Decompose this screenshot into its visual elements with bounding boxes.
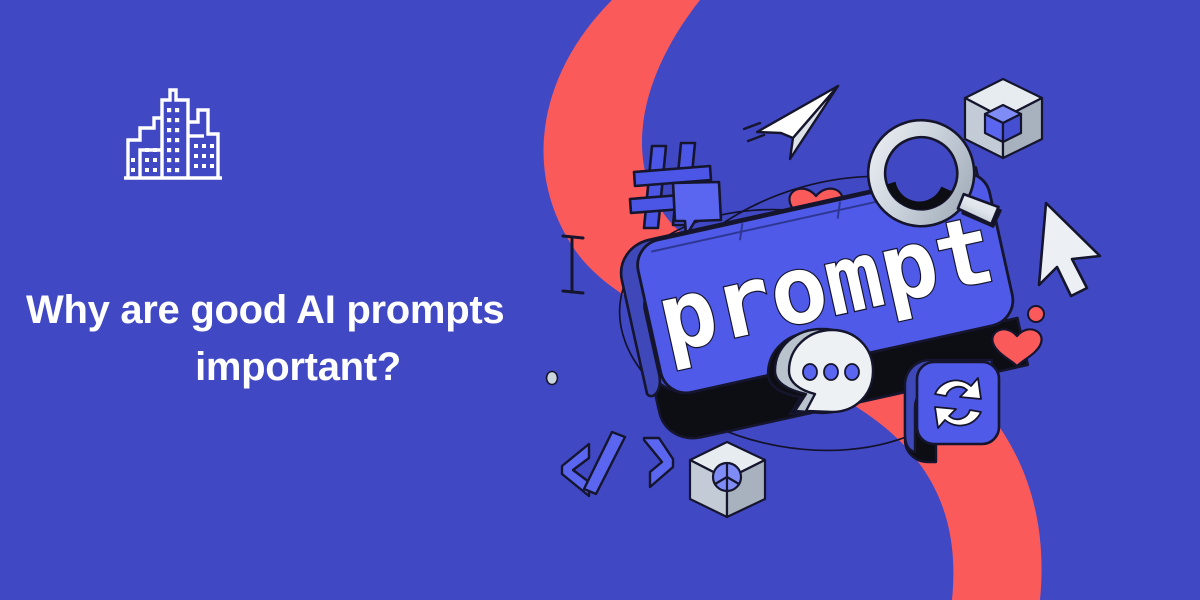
cube-icon-top-right <box>965 79 1042 158</box>
cursor-arrow-icon[interactable] <box>1039 203 1100 296</box>
dot-icon-gray-left <box>547 372 558 385</box>
code-brackets-icon <box>562 432 673 496</box>
cube-icon-bottom <box>690 442 765 517</box>
dot-icon-right <box>1028 306 1044 322</box>
banner-root: Why are good AI prompts important? <box>0 0 1200 600</box>
ai-prompt-illustration: prompt <box>0 0 1200 600</box>
refresh-button-icon[interactable] <box>905 360 999 462</box>
paper-plane-icon <box>744 86 838 159</box>
text-caret-icon <box>563 236 583 293</box>
